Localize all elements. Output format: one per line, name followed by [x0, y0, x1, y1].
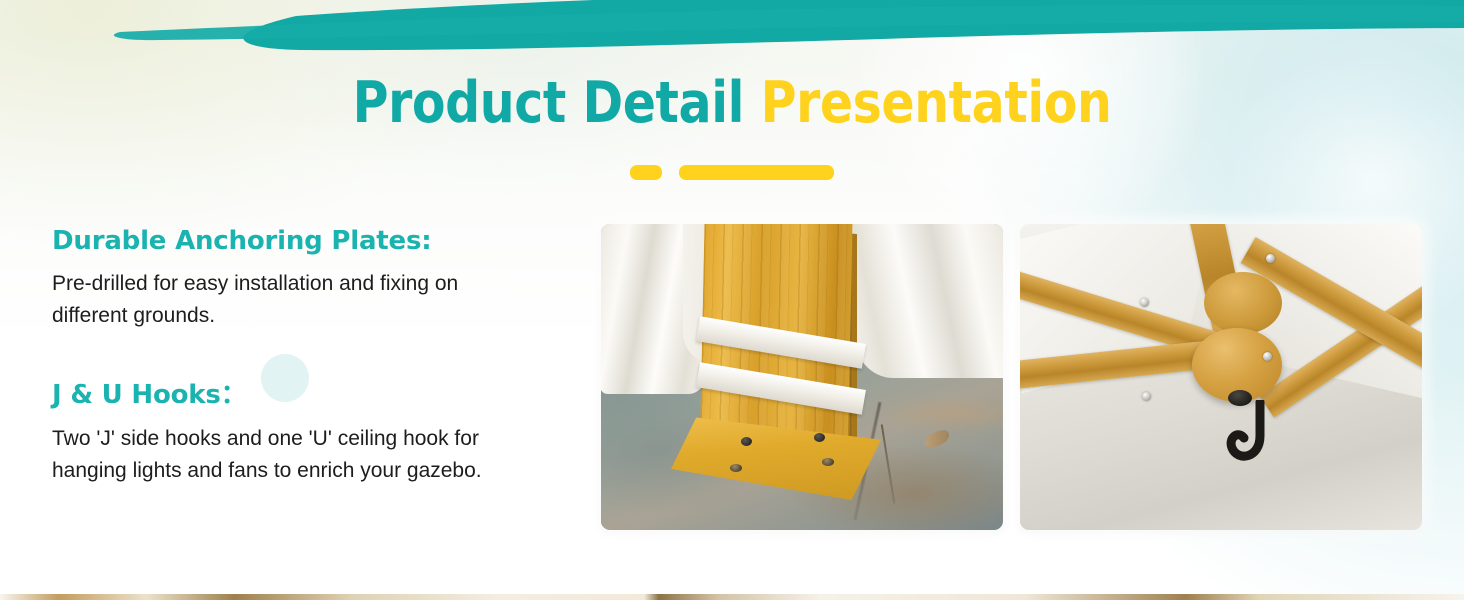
divider-short-bar — [630, 165, 662, 180]
curtain-right — [853, 224, 1003, 378]
pre-drilled-hole — [822, 458, 834, 466]
divider-long-bar — [679, 165, 834, 180]
anchor-bolt — [814, 433, 825, 442]
pre-drilled-hole — [730, 464, 742, 472]
title-accent: Presentation — [761, 70, 1112, 136]
anchor-bolt — [741, 437, 752, 446]
product-photo-anchoring-plate — [601, 224, 1003, 530]
teal-swoosh-decoration — [0, 0, 1464, 64]
product-photo-row — [601, 224, 1422, 530]
hardware-screw — [1266, 254, 1275, 263]
title-block: Product Detail Presentation — [0, 74, 1464, 134]
hardware-screw — [1142, 392, 1151, 401]
title-primary: Product Detail — [353, 70, 761, 136]
page-title: Product Detail Presentation — [102, 74, 1361, 134]
feature-heading-anchoring-plates: Durable Anchoring Plates: — [52, 226, 532, 256]
roof-hub-upper — [1204, 272, 1282, 334]
product-photo-ceiling-hook — [1020, 224, 1422, 530]
product-detail-banner: Product Detail Presentation Durable Anch… — [0, 0, 1464, 600]
feature-copy-column: Durable Anchoring Plates: Pre-drilled fo… — [52, 226, 532, 487]
bottom-bleed-strip — [0, 594, 1464, 600]
feature-body-anchoring-plates: Pre-drilled for easy installation and fi… — [52, 268, 500, 332]
feature-heading-j-and-u-hooks: J & U Hooks： — [52, 374, 532, 411]
hardware-screw — [1140, 298, 1149, 307]
title-divider — [0, 165, 1464, 180]
feature-body-j-and-u-hooks: Two 'J' side hooks and one 'U' ceiling h… — [52, 423, 500, 487]
u-ceiling-hook-icon — [1216, 400, 1296, 486]
hardware-screw — [1263, 352, 1272, 361]
